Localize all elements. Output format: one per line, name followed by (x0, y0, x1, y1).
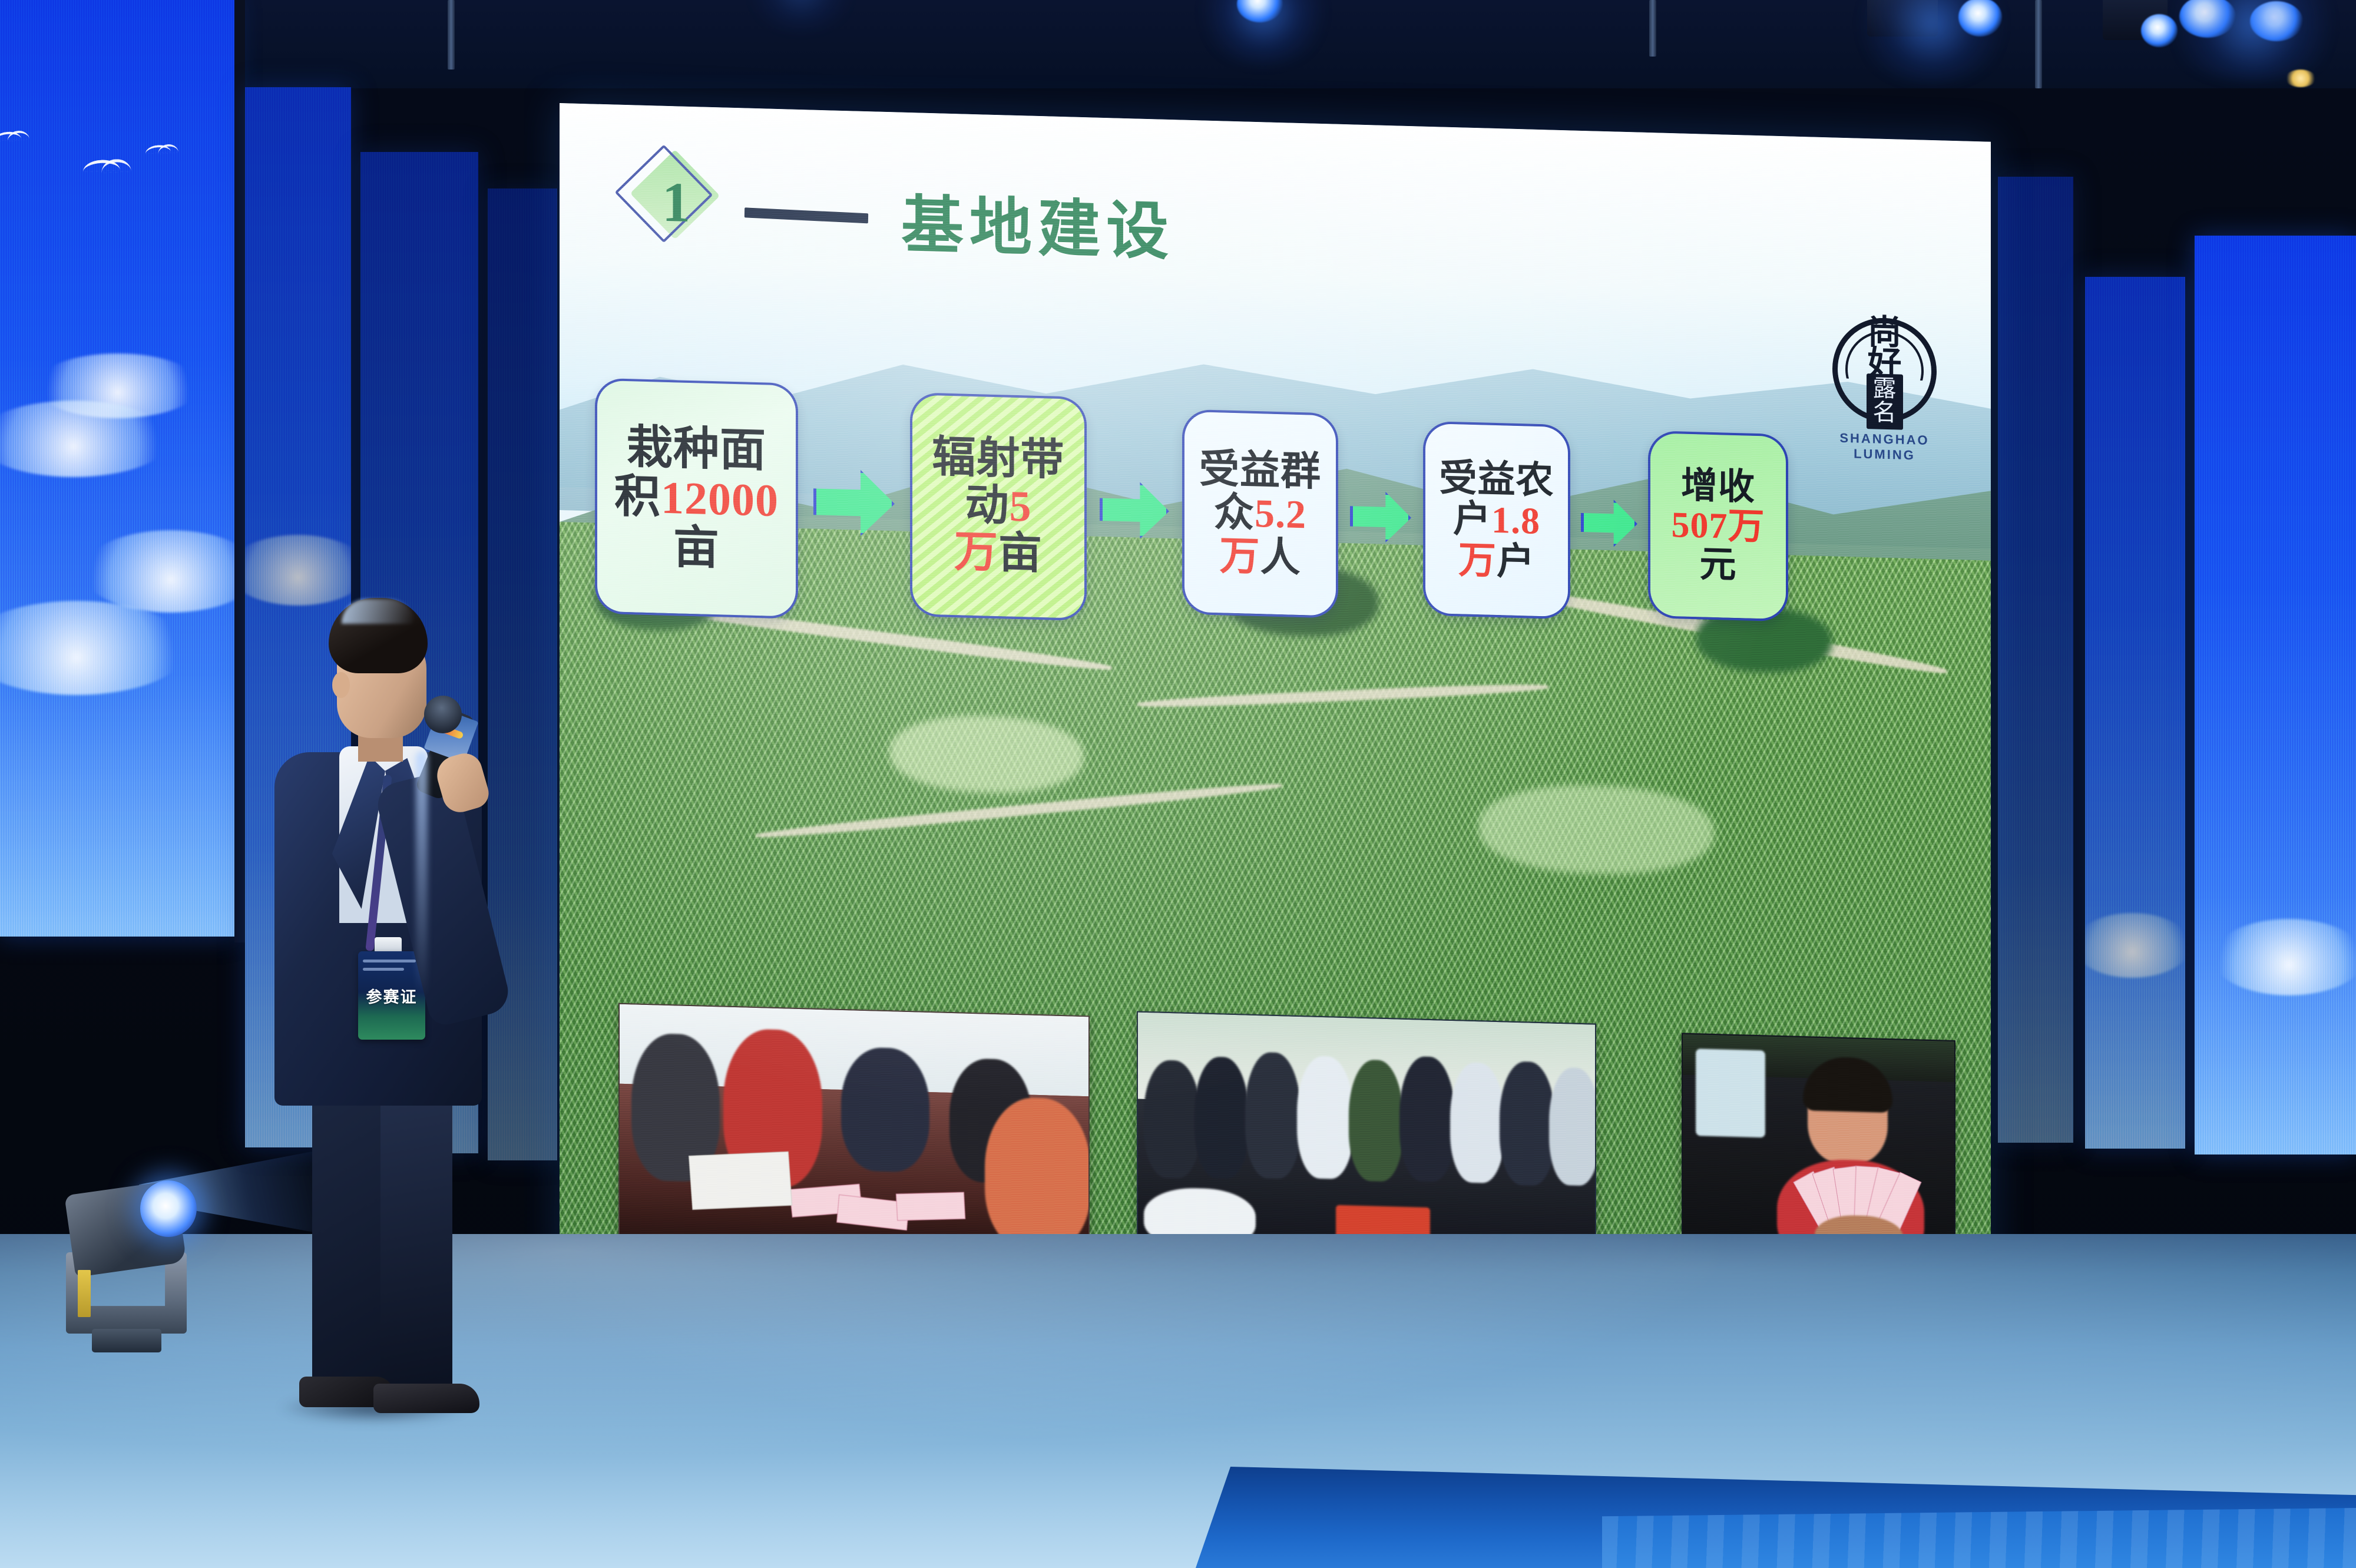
presenter-legs (307, 1087, 461, 1393)
card3-line3: 人 (1260, 534, 1301, 580)
led-panel-left-1 (0, 0, 234, 937)
card4-line3: 户 (1497, 540, 1535, 583)
led-panel-right-3 (2195, 236, 2356, 1155)
section-number-diamond: 1 (630, 154, 719, 245)
person-silhouette (1500, 1061, 1555, 1186)
light-base (92, 1329, 161, 1352)
presenter-rim-light (416, 751, 428, 998)
cloud-shape (2212, 919, 2356, 995)
card5-value: 507万 (1671, 505, 1765, 547)
warm-accent-light (2285, 70, 2316, 87)
flow-arrow-icon (1100, 481, 1169, 540)
slide-title: 基地建设 (901, 174, 1174, 272)
presenter-shoe-right (373, 1384, 479, 1413)
person-silhouette (1349, 1059, 1403, 1182)
section-number: 1 (630, 154, 719, 245)
presenter-leg-left (312, 1087, 382, 1388)
flow-arrow-icon (1350, 491, 1411, 543)
cloud-shape (0, 601, 188, 695)
card2-line3-hl: 万 (954, 528, 998, 577)
truss-pole (448, 0, 455, 70)
card1-line2-prefix: 积 (614, 470, 661, 522)
cloud-shape (82, 530, 234, 613)
title-dash-rule (744, 207, 868, 223)
cloud-shape (0, 401, 171, 477)
card5-line3: 元 (1699, 545, 1736, 586)
paper-document (689, 1152, 792, 1210)
person-silhouette (1450, 1062, 1504, 1183)
person-silhouette (1194, 1056, 1249, 1179)
card4-line2-prefix: 户 (1453, 498, 1491, 541)
moving-head-stage-light (35, 1155, 212, 1367)
plantation-path (1137, 682, 1549, 710)
stat-card-planting-area[interactable]: 栽种面 积12000 亩 (595, 378, 798, 619)
person-silhouette (985, 1097, 1090, 1252)
card2-value: 5 (1010, 482, 1032, 531)
stat-card-benefit-households[interactable]: 受益农 户1.8 万户 (1423, 421, 1570, 620)
led-panel-right-2 (2085, 277, 2185, 1149)
stat-card-income-increase[interactable]: 增收 507万 元 (1648, 431, 1788, 621)
card3-line3-hl: 万 (1219, 533, 1260, 579)
warning-label (78, 1270, 91, 1317)
truss-pole (1649, 0, 1656, 57)
presenter-ear (332, 672, 350, 698)
arrow-shape (1100, 481, 1169, 540)
badge-label: 参赛证 (358, 984, 425, 1007)
card2-line2-prefix: 动 (965, 481, 1010, 531)
presenter-leg-right (380, 1087, 452, 1393)
badge-header-line (363, 960, 416, 962)
stat-card-row: 栽种面 积12000 亩 辐射带 动5 万亩 受益群 众5.2 万人 (595, 343, 1967, 686)
card4-line1: 受益农 (1440, 457, 1554, 502)
stat-card-text: 受益群 众5.2 万人 (1199, 447, 1321, 580)
cloud-shape (2085, 913, 2185, 978)
arrow-shape (1350, 491, 1411, 543)
flow-arrow-icon (813, 469, 895, 537)
card1-line3: 亩 (673, 521, 720, 574)
card4-value: 1.8 (1491, 499, 1540, 542)
card2-line3: 亩 (998, 529, 1043, 578)
person-silhouette (1399, 1056, 1455, 1183)
photo-payout-table[interactable] (618, 1003, 1090, 1252)
stat-card-text: 增收 507万 元 (1671, 466, 1765, 587)
person-silhouette (1144, 1060, 1200, 1179)
led-panel-right-1 (1998, 177, 2073, 1143)
presenter-badge: 参赛证 (358, 951, 425, 1040)
card2-line1: 辐射带 (932, 433, 1065, 485)
cloud-shape (245, 535, 351, 606)
card5-line1: 增收 (1681, 465, 1755, 507)
card3-value: 5.2 (1255, 491, 1306, 537)
seagull-icon (82, 159, 120, 172)
presenter: 参赛证 (253, 598, 501, 1440)
panel-gap (234, 0, 245, 942)
field-highlight (889, 713, 1084, 795)
card3-line1: 受益群 (1199, 446, 1321, 494)
card1-value: 12000 (661, 472, 779, 526)
stat-card-radiating-area[interactable]: 辐射带 动5 万亩 (910, 392, 1087, 621)
doorway-light (1696, 1048, 1765, 1137)
card4-line3-hl: 万 (1458, 539, 1497, 582)
seagull-icon (0, 131, 21, 142)
field-highlight (1478, 782, 1714, 877)
truss-pole (2035, 0, 2042, 88)
logo-glyph-stack: 尚 好 (1867, 316, 1901, 380)
seagull-icon (145, 144, 171, 154)
stage-front-step (1602, 1508, 2356, 1568)
slide-header: 1 基地建设 (630, 140, 1174, 272)
stat-card-text: 受益农 户1.8 万户 (1440, 458, 1554, 583)
presentation-screen[interactable]: 1 基地建设 尚 好 露 名 SHANGHAO LUMING (560, 103, 1991, 1305)
photo-group[interactable] (1137, 1011, 1596, 1253)
card1-line1: 栽种面 (627, 421, 766, 476)
card3-line2-prefix: 众 (1214, 489, 1255, 535)
stat-card-beneficiaries[interactable]: 受益群 众5.2 万人 (1182, 409, 1338, 618)
light-lens (140, 1180, 197, 1237)
badge-header-line (363, 968, 404, 971)
stage-scene: 1 基地建设 尚 好 露 名 SHANGHAO LUMING (0, 0, 2356, 1568)
arrow-shape (1581, 499, 1637, 548)
presenter-hair-highlight (342, 599, 415, 624)
person-silhouette (841, 1047, 929, 1173)
stat-card-text: 辐射带 动5 万亩 (932, 434, 1065, 579)
person-silhouette (1549, 1067, 1596, 1186)
arrow-shape (813, 469, 895, 537)
person-silhouette (1297, 1056, 1354, 1180)
flow-arrow-icon (1581, 499, 1637, 548)
person-silhouette (1245, 1051, 1301, 1179)
stat-card-text: 栽种面 积12000 亩 (614, 422, 779, 575)
banknote (896, 1192, 965, 1221)
cloud-shape (35, 353, 200, 418)
